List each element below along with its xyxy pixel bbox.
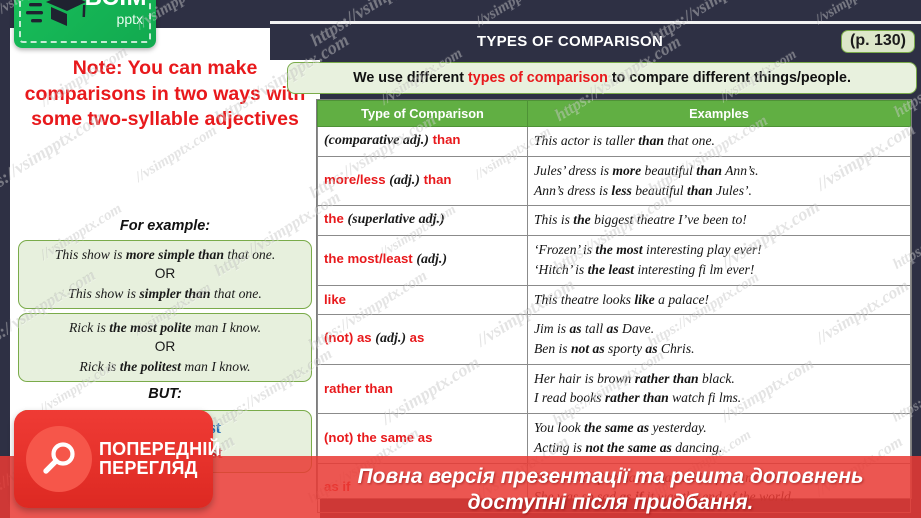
cell-type-of-comparison: more/less (adj.) than — [318, 156, 528, 205]
text: This show is — [68, 286, 139, 301]
purchase-overlay-line1: Повна версія презентації та решта доповн… — [300, 464, 921, 490]
text: that one. — [210, 286, 261, 301]
example-box-1: This show is more simple than that one. … — [18, 240, 312, 309]
example-box-2-line1: Rick is the most polite man I know. — [23, 318, 307, 337]
example-line: ‘Hitch’ is the least interesting fi lm e… — [534, 260, 904, 280]
intro-after: to compare different things/people. — [608, 70, 851, 86]
example-line: You look the same as yesterday. — [534, 418, 904, 438]
brand-logo[interactable]: ВСІМ pptx — [14, 0, 156, 48]
cell-examples: Jim is as tall as Dave.Ben is not as spo… — [528, 315, 911, 364]
logo-subtext: pptx — [117, 12, 143, 26]
text: Rick is — [69, 320, 109, 335]
cell-type-of-comparison: rather than — [318, 364, 528, 413]
watermark-text: //vsimpptx.com — [473, 0, 561, 30]
table-head: Type of Comparison Examples — [318, 101, 911, 127]
preview-badge-line1: ПОПЕРЕДНІЙ — [99, 440, 221, 459]
intro-text: We use different types of comparison to … — [353, 70, 851, 86]
magnifier-icon — [26, 426, 92, 492]
purchase-overlay-text: Повна версія презентації та решта доповн… — [300, 464, 921, 515]
example-line: Jim is as tall as Dave. — [534, 319, 904, 339]
example-box-1-line1: This show is more simple than that one. — [23, 245, 307, 264]
slide-canvas: Note: You can make comparisons in two wa… — [0, 0, 921, 518]
example-line: Her hair is brown rather than black. — [534, 369, 904, 389]
table-row: rather thanHer hair is brown rather than… — [318, 364, 911, 413]
cell-type-of-comparison: like — [318, 285, 528, 315]
comparison-table: Type of Comparison Examples (comparative… — [317, 100, 911, 513]
cell-examples: ‘Frozen’ is the most interesting play ev… — [528, 236, 911, 285]
table-header-row: Type of Comparison Examples — [318, 101, 911, 127]
table-row: the (superlative adj.)This is the bigges… — [318, 206, 911, 236]
text: Rick is — [79, 359, 119, 374]
but-label: BUT: — [10, 386, 320, 402]
intro-highlight: types of comparison — [468, 70, 608, 86]
or-label-1: OR — [23, 264, 307, 283]
text: man I know. — [191, 320, 261, 335]
bold-text: simpler than — [139, 286, 210, 301]
cell-examples: Her hair is brown rather than black.I re… — [528, 364, 911, 413]
cell-examples: This actor is taller than that one. — [528, 127, 911, 157]
table-row: the most/least (adj.)‘Frozen’ is the mos… — [318, 236, 911, 285]
preview-badge-text: ПОПЕРЕДНІЙ ПЕРЕГЛЯД — [99, 440, 221, 479]
cell-examples: This is the biggest theatre I’ve been to… — [528, 206, 911, 236]
page-number-badge: (p. 130) — [841, 30, 915, 53]
purchase-overlay-line2: доступні після придбання. — [300, 490, 921, 516]
note-heading: Note: You can make comparisons in two wa… — [18, 56, 312, 133]
example-line: Ann’s dress is less beautiful than Jules… — [534, 181, 904, 201]
column-header-examples: Examples — [528, 101, 911, 127]
example-line: I read books rather than watch fi lms. — [534, 388, 904, 408]
preview-badge-line2: ПЕРЕГЛЯД — [99, 459, 221, 478]
example-box-2-line2: Rick is the politest man I know. — [23, 357, 307, 376]
cell-type-of-comparison: (not) as (adj.) as — [318, 315, 528, 364]
or-label-2: OR — [23, 337, 307, 356]
example-line: Jules’ dress is more beautiful than Ann’… — [534, 161, 904, 181]
example-box-1-line2: This show is simpler than that one. — [23, 284, 307, 303]
text: man I know. — [181, 359, 251, 374]
bold-text: the politest — [120, 359, 181, 374]
example-line: This actor is taller than that one. — [534, 131, 904, 151]
cell-type-of-comparison: (comparative adj.) than — [318, 127, 528, 157]
bold-text: the most polite — [109, 320, 191, 335]
table-row: (comparative adj.) thanThis actor is tal… — [318, 127, 911, 157]
comparison-table-wrapper: Type of Comparison Examples (comparative… — [316, 99, 912, 499]
cell-type-of-comparison: the most/least (adj.) — [318, 236, 528, 285]
title-divider — [270, 21, 921, 24]
text: This show is — [55, 247, 126, 262]
intro-before: We use different — [353, 70, 468, 86]
example-line: Ben is not as sporty as Chris. — [534, 339, 904, 359]
graduation-cap-icon — [26, 0, 88, 36]
example-line: This theatre looks like a palace! — [534, 290, 904, 310]
intro-banner: We use different types of comparison to … — [287, 62, 917, 94]
page-title: TYPES OF COMPARISON — [270, 33, 870, 50]
example-line: ‘Frozen’ is the most interesting play ev… — [534, 240, 904, 260]
column-header-type: Type of Comparison — [318, 101, 528, 127]
cell-examples: Jules’ dress is more beautiful than Ann’… — [528, 156, 911, 205]
cell-examples: This theatre looks like a palace! — [528, 285, 911, 315]
example-box-2: Rick is the most polite man I know. OR R… — [18, 313, 312, 382]
table-body: (comparative adj.) thanThis actor is tal… — [318, 127, 911, 513]
example-line: This is the biggest theatre I’ve been to… — [534, 210, 904, 230]
preview-badge[interactable]: ПОПЕРЕДНІЙ ПЕРЕГЛЯД — [14, 410, 213, 508]
title-bar: TYPES OF COMPARISON (p. 130) — [270, 27, 921, 60]
bold-text: more simple than — [126, 247, 224, 262]
text: that one. — [224, 247, 275, 262]
example-line: Acting is not the same as dancing. — [534, 438, 904, 458]
for-example-label: For example: — [10, 218, 320, 234]
logo-wordmark: ВСІМ — [85, 0, 147, 10]
table-row: likeThis theatre looks like a palace! — [318, 285, 911, 315]
table-row: more/less (adj.) thanJules’ dress is mor… — [318, 156, 911, 205]
cell-type-of-comparison: the (superlative adj.) — [318, 206, 528, 236]
table-row: (not) as (adj.) asJim is as tall as Dave… — [318, 315, 911, 364]
